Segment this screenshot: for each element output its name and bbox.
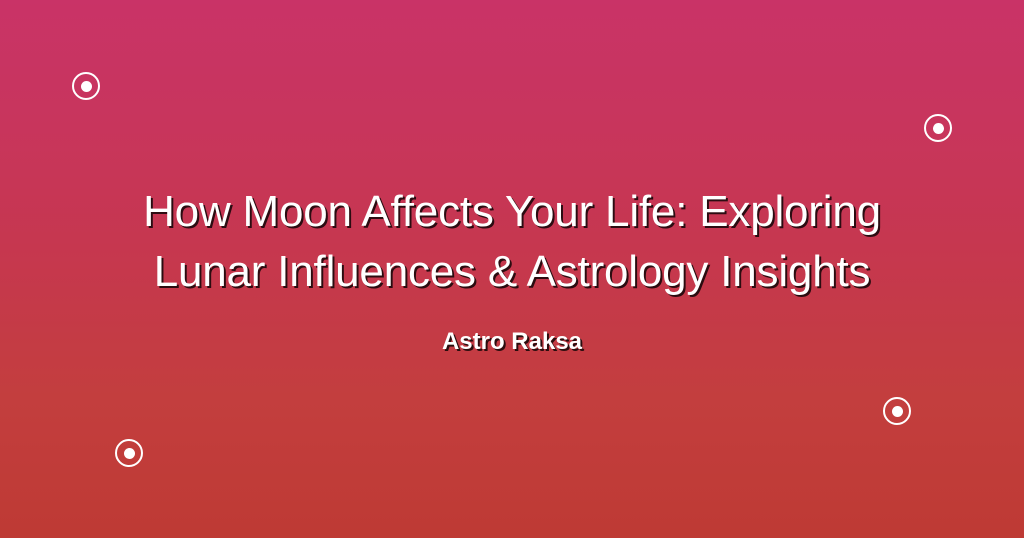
slide-text-block: How Moon Affects Your Life: Exploring Lu… xyxy=(0,0,1024,538)
slide-title: How Moon Affects Your Life: Exploring Lu… xyxy=(42,182,982,302)
title-slide: How Moon Affects Your Life: Exploring Lu… xyxy=(0,0,1024,538)
slide-subtitle: Astro Raksa xyxy=(442,328,582,356)
